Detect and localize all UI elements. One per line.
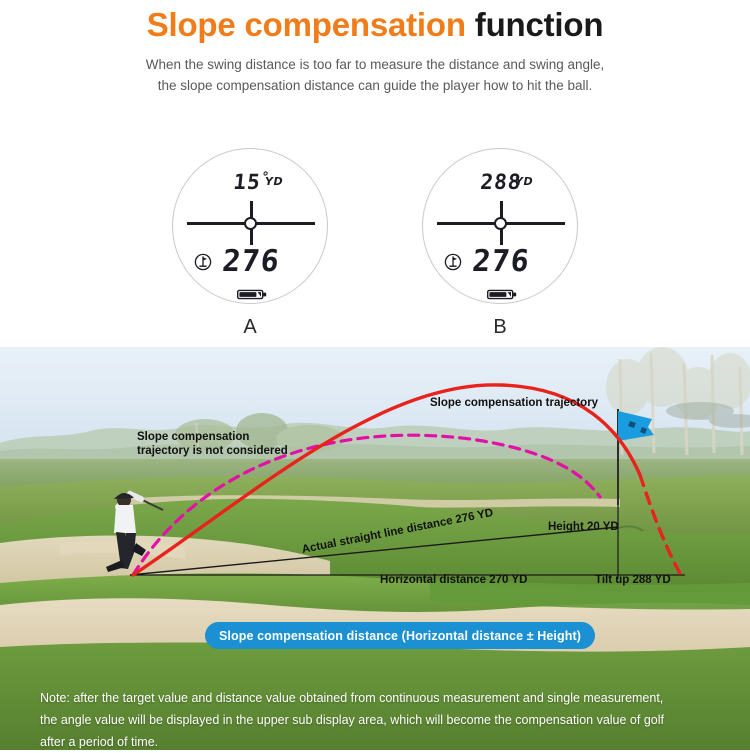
display-b-caption: B xyxy=(422,316,578,339)
display-a-unit-label: YD xyxy=(265,175,283,188)
display-a-angle-value: 15° xyxy=(172,170,331,194)
battery-icon xyxy=(237,287,267,298)
rangefinder-display-b: 288 YD 276 xyxy=(422,148,578,304)
annotation-tilt-up: Tilt up 288 YD xyxy=(595,573,671,587)
crosshair-center-dot xyxy=(494,217,507,230)
footer-note: Note: after the target value and distanc… xyxy=(40,687,720,753)
crosshair-reticle xyxy=(437,201,565,245)
note-line-2: the angle value will be displayed in the… xyxy=(40,709,720,731)
rangefinder-display-a: 15° YD 276 xyxy=(172,148,328,304)
note-line-1: Note: after the target value and distanc… xyxy=(40,687,720,709)
page-root: Slope compensation function When the swi… xyxy=(0,0,750,750)
annotation-uncompensated: Slope compensation trajectory is not con… xyxy=(137,430,288,458)
page-subtitle: When the swing distance is too far to me… xyxy=(0,54,750,96)
annotation-compensated-trajectory: Slope compensation trajectory xyxy=(430,396,598,410)
title-highlight: Slope compensation xyxy=(147,6,466,43)
display-b-angle-value: 288 xyxy=(422,170,581,194)
crosshair-center-dot xyxy=(244,217,257,230)
display-a-caption: A xyxy=(172,316,328,339)
annotation-height: Height 20 YD xyxy=(548,520,619,534)
golf-pin-icon xyxy=(194,253,212,271)
slope-compensation-banner: Slope compensation distance (Horizontal … xyxy=(205,622,595,649)
golf-pin-icon xyxy=(444,253,462,271)
title-plain: function xyxy=(466,6,604,43)
subtitle-line-2: the slope compensation distance can guid… xyxy=(0,75,750,96)
display-b-unit-label: YD xyxy=(515,175,533,188)
lcd-display-group: 15° YD 276 xyxy=(0,148,750,348)
subtitle-line-1: When the swing distance is too far to me… xyxy=(0,54,750,75)
battery-icon xyxy=(487,287,517,298)
annotation-horizontal-distance: Horizontal distance 270 YD xyxy=(380,573,527,587)
crosshair-reticle xyxy=(187,201,315,245)
page-title: Slope compensation function xyxy=(0,5,750,45)
